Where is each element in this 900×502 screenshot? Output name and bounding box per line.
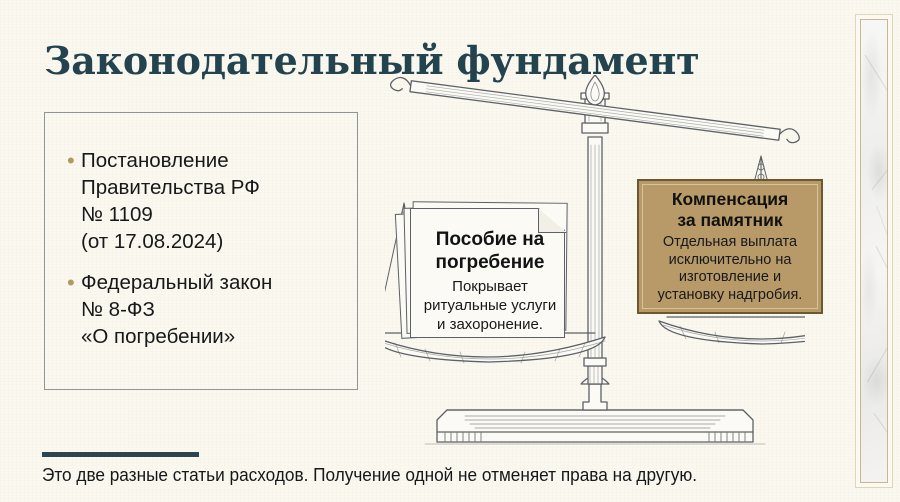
- bullet-marker-icon: •: [67, 147, 81, 174]
- compensation-plaque-inner: Компенсация за памятник Отдельная выплат…: [642, 184, 818, 309]
- compensation-heading: Компенсация за памятник: [672, 189, 788, 231]
- footer-caption: Это две разные статьи расходов. Получени…: [42, 464, 697, 486]
- list-item: • Постановление Правительства РФ № 1109 …: [67, 147, 347, 255]
- bullet-marker-icon: •: [67, 269, 81, 296]
- slide-canvas: Законодательный фундамент • Постановлени…: [0, 0, 900, 502]
- compensation-subtext: Отдельная выплата исключительно на изгот…: [658, 234, 803, 304]
- marble-texture-panel: [860, 19, 888, 483]
- benefit-papers-stack: Пособие на погребение Покрывает ритуальн…: [398, 198, 573, 338]
- benefit-text-block: Пособие на погребение Покрывает ритуальн…: [416, 228, 564, 334]
- benefit-heading: Пособие на погребение: [416, 228, 564, 274]
- footer-rule: [42, 452, 199, 457]
- benefit-subtext: Покрывает ритуальные услуги и захоронени…: [416, 277, 564, 334]
- legislation-list: • Постановление Правительства РФ № 1109 …: [67, 147, 347, 364]
- list-item-label: Федеральный закон № 8-ФЗ «О погребении»: [81, 269, 272, 350]
- compensation-plaque: Компенсация за памятник Отдельная выплат…: [637, 179, 823, 314]
- marble-border-frame: [855, 14, 893, 488]
- list-item: • Федеральный закон № 8-ФЗ «О погребении…: [67, 269, 347, 350]
- legislation-box: • Постановление Правительства РФ № 1109 …: [44, 112, 358, 390]
- list-item-label: Постановление Правительства РФ № 1109 (о…: [81, 147, 260, 255]
